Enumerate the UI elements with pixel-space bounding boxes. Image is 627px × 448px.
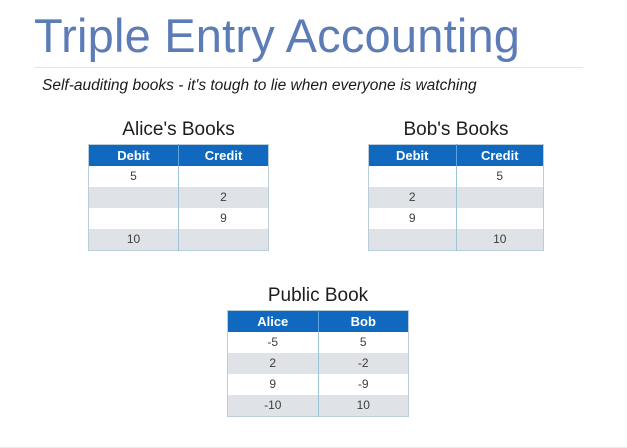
table-row: 2 -2 <box>228 353 409 374</box>
column-header-debit: Debit <box>369 145 457 167</box>
column-header-debit: Debit <box>89 145 179 167</box>
column-header-bob: Bob <box>318 311 409 333</box>
table-row: 9 <box>369 208 544 229</box>
cell-credit <box>179 166 269 187</box>
book-alice-table: Debit Credit 5 2 9 10 <box>88 144 269 251</box>
table-row: 2 <box>369 187 544 208</box>
table-header-row: Alice Bob <box>228 311 409 333</box>
slide-canvas: Triple Entry Accounting Self-auditing bo… <box>0 0 627 448</box>
cell-debit: 2 <box>369 187 457 208</box>
title-divider <box>34 67 583 68</box>
cell-credit: 2 <box>179 187 269 208</box>
cell-credit: 9 <box>179 208 269 229</box>
page-subtitle: Self-auditing books - it's tough to lie … <box>42 75 597 97</box>
cell-credit: 5 <box>456 166 544 187</box>
cell-alice: 9 <box>228 374 319 395</box>
cell-bob: -9 <box>318 374 409 395</box>
table-row: 5 <box>369 166 544 187</box>
book-bob-title: Bob's Books <box>368 118 544 142</box>
table-header-row: Debit Credit <box>89 145 269 167</box>
table-row: 10 <box>369 229 544 251</box>
cell-credit <box>456 187 544 208</box>
table-row: 9 <box>89 208 269 229</box>
column-header-alice: Alice <box>228 311 319 333</box>
book-public-title: Public Book <box>227 284 409 308</box>
table-header-row: Debit Credit <box>369 145 544 167</box>
cell-bob: 10 <box>318 395 409 417</box>
cell-alice: -5 <box>228 332 319 353</box>
book-alice-title: Alice's Books <box>88 118 269 142</box>
cell-debit <box>369 229 457 251</box>
book-alice: Alice's Books Debit Credit 5 2 <box>88 118 269 251</box>
cell-debit <box>89 208 179 229</box>
table-row: 9 -9 <box>228 374 409 395</box>
book-public-table: Alice Bob -5 5 2 -2 9 -9 -10 <box>227 310 409 417</box>
table-row: 2 <box>89 187 269 208</box>
cell-credit: 10 <box>456 229 544 251</box>
table-row: -10 10 <box>228 395 409 417</box>
cell-bob: -2 <box>318 353 409 374</box>
page-title: Triple Entry Accounting <box>34 8 597 64</box>
cell-debit <box>89 187 179 208</box>
cell-debit <box>369 166 457 187</box>
cell-credit <box>179 229 269 251</box>
table-row: 10 <box>89 229 269 251</box>
title-block: Triple Entry Accounting Self-auditing bo… <box>34 8 597 97</box>
cell-debit: 10 <box>89 229 179 251</box>
cell-bob: 5 <box>318 332 409 353</box>
book-bob-table: Debit Credit 5 2 9 1 <box>368 144 544 251</box>
column-header-credit: Credit <box>179 145 269 167</box>
table-row: 5 <box>89 166 269 187</box>
cell-debit: 5 <box>89 166 179 187</box>
book-bob: Bob's Books Debit Credit 5 2 9 <box>368 118 544 251</box>
cell-debit: 9 <box>369 208 457 229</box>
book-public: Public Book Alice Bob -5 5 2 -2 9 <box>227 284 409 417</box>
column-header-credit: Credit <box>456 145 544 167</box>
cell-alice: 2 <box>228 353 319 374</box>
cell-alice: -10 <box>228 395 319 417</box>
cell-credit <box>456 208 544 229</box>
table-row: -5 5 <box>228 332 409 353</box>
